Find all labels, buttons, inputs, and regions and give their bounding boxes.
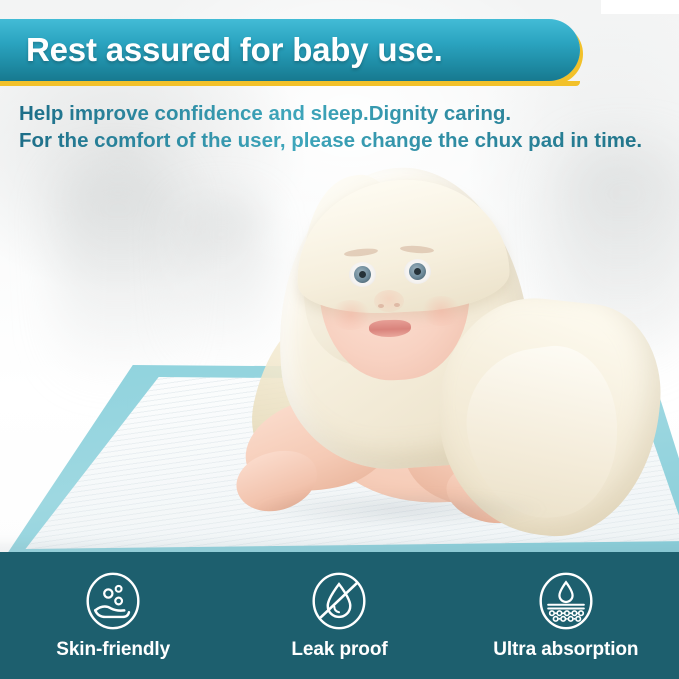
baby-shadow (250, 492, 550, 526)
baby-nose (374, 290, 404, 312)
baby-pupil (359, 271, 366, 278)
subheading-line-2: For the comfort of the user, please chan… (19, 127, 669, 154)
feature-label: Leak proof (291, 639, 387, 661)
feature-leak-proof: Leak proof (226, 570, 452, 661)
feature-skin-friendly: Skin-friendly (0, 570, 226, 661)
baby-pupil (414, 268, 421, 275)
subheading-block: Help improve confidence and sleep.Dignit… (19, 100, 669, 154)
baby-cheek (330, 300, 372, 330)
leak-proof-icon (309, 570, 369, 632)
feature-label: Skin-friendly (56, 639, 170, 661)
headline-text: Rest assured for baby use. (0, 31, 443, 69)
product-feature-image: Rest assured for baby use. Help improve … (0, 0, 679, 679)
baby-nostril (378, 304, 384, 308)
feature-label: Ultra absorption (493, 639, 638, 661)
feature-ultra-absorption: Ultra absorption (453, 570, 679, 661)
skin-friendly-icon (83, 570, 143, 632)
subheading-line-1: Help improve confidence and sleep.Dignit… (19, 100, 669, 127)
feature-bar: Skin-friendly Leak proof (0, 552, 679, 679)
headline-banner: Rest assured for baby use. (0, 19, 580, 81)
baby-nostril (394, 303, 400, 307)
ultra-absorption-icon (536, 570, 596, 632)
baby-cheek (420, 296, 462, 326)
